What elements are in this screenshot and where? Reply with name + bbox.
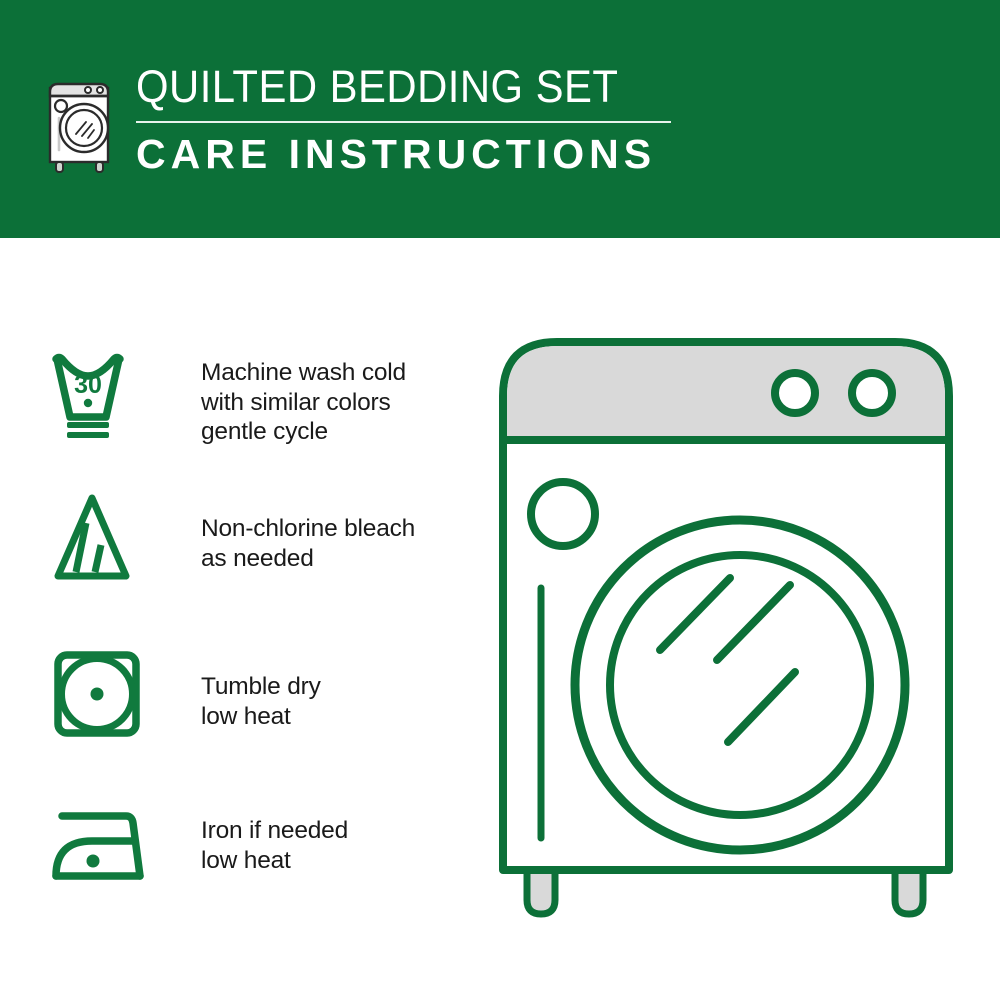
knob-left[interactable]	[775, 373, 815, 413]
care-row-tumble-dry: Tumble dry low heat	[48, 645, 321, 745]
care-row-iron: Iron if needed low heat	[48, 794, 348, 894]
bleach-triangle-icon	[48, 488, 152, 588]
page-title: QUILTED BEDDING SET	[136, 62, 634, 112]
wash-temperature-label: 30	[74, 371, 102, 399]
wash-basin-30-icon: 30	[48, 343, 152, 443]
care-text-machine-wash: Machine wash cold with similar colors ge…	[201, 358, 406, 447]
knob-right[interactable]	[852, 373, 892, 413]
care-text-bleach: Non-chlorine bleach as needed	[201, 514, 415, 573]
front-load-washing-machine-illustration	[495, 330, 975, 940]
header-content: QUILTED BEDDING SET CARE INSTRUCTIONS	[44, 62, 671, 177]
care-row-machine-wash: 30 Machine wash cold with similar colors…	[48, 343, 406, 447]
care-row-bleach: Non-chlorine bleach as needed	[48, 488, 415, 588]
iron-icon	[48, 794, 152, 894]
detergent-dispenser[interactable]	[531, 482, 595, 546]
header-banner: QUILTED BEDDING SET CARE INSTRUCTIONS	[0, 0, 1000, 238]
tumble-dry-icon	[48, 645, 152, 745]
title-divider	[136, 121, 671, 123]
page-subtitle: CARE INSTRUCTIONS	[136, 131, 671, 177]
care-instruction-list: 30 Machine wash cold with similar colors…	[0, 238, 480, 1000]
care-text-iron: Iron if needed low heat	[201, 816, 348, 875]
leg-right	[895, 870, 923, 914]
care-text-tumble-dry: Tumble dry low heat	[201, 672, 321, 731]
leg-left	[527, 870, 555, 914]
washing-machine-icon	[44, 66, 118, 176]
title-block: QUILTED BEDDING SET CARE INSTRUCTIONS	[136, 62, 671, 177]
door-inner-ring	[610, 555, 870, 815]
